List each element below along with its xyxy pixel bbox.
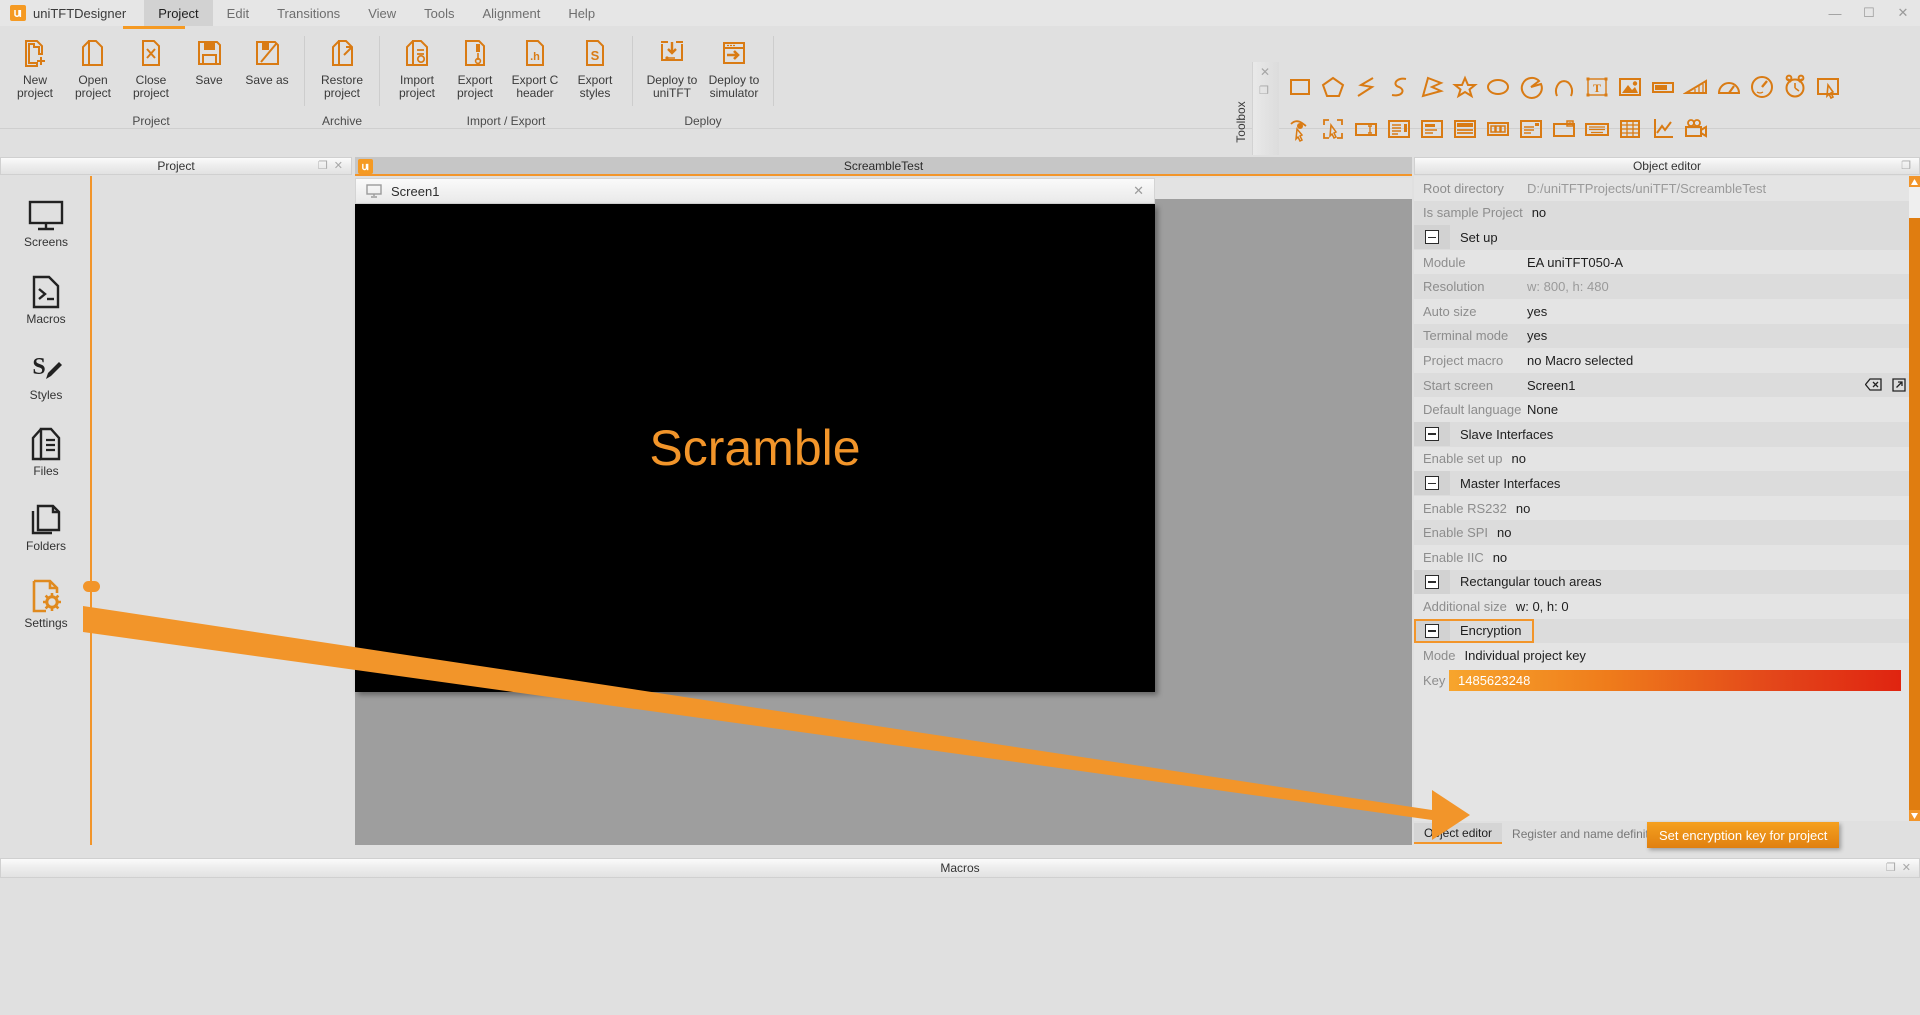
monitor-icon <box>27 200 65 232</box>
property-value: no <box>1532 205 1546 220</box>
save-button[interactable]: Save <box>180 30 238 87</box>
restore-project-icon <box>327 36 357 70</box>
ribbon-group-project-label: Project <box>0 113 302 129</box>
document-tab-bar: ScreambleTest <box>355 157 1412 176</box>
import-project-icon <box>402 36 432 70</box>
toolbox-close-icon[interactable]: ✕ <box>1260 65 1270 79</box>
property-value: w: 0, h: 0 <box>1516 599 1569 614</box>
export-c-header-label: Export Cheader <box>512 74 559 100</box>
collapse-expander[interactable] <box>1414 471 1450 495</box>
property-value: no Macro selected <box>1527 353 1633 368</box>
screen1-canvas[interactable]: Scramble <box>355 204 1155 692</box>
property-label: Start screen <box>1423 378 1527 393</box>
document-tab-title[interactable]: ScreambleTest <box>355 159 1412 173</box>
minus-icon <box>1425 575 1439 589</box>
deploy-to-simulator-button[interactable]: Deploy tosimulator <box>703 30 765 100</box>
property-value: w: 800, h: 480 <box>1527 279 1609 294</box>
bar-tool-icon[interactable] <box>1648 72 1678 102</box>
screen1-window[interactable]: Screen1 ✕ Scramble <box>355 178 1155 718</box>
property-label: Default language <box>1423 402 1527 417</box>
project-panel: Project ❐ ✕ Screens Macros <box>0 157 352 845</box>
menu-help[interactable]: Help <box>554 0 609 26</box>
toolbox-row-2 <box>1285 108 1915 150</box>
property-label: Terminal mode <box>1423 328 1527 343</box>
app-title: uniTFTDesigner <box>33 0 144 26</box>
property-value: Individual project key <box>1465 648 1586 663</box>
pie-tool-icon[interactable] <box>1516 72 1546 102</box>
ribbon-groups: Newproject Openproject Closeproject <box>0 30 776 129</box>
property-label: Is sample Project <box>1423 205 1523 220</box>
ribbon-group-archive-items: Restoreproject <box>307 30 377 113</box>
property-label: Additional size <box>1423 599 1507 614</box>
application-window: uniTFTDesigner Project Edit Transitions … <box>0 0 1920 1015</box>
property-row-project-macro[interactable]: Project macro no Macro selected <box>1414 348 1920 373</box>
close-button[interactable]: ✕ <box>1902 862 1911 874</box>
property-value: no <box>1512 451 1526 466</box>
ribbon-group-import-export-label: Import / Export <box>382 113 630 129</box>
project-nav-rail: Screens Macros S Styles <box>0 186 92 642</box>
property-row-start-screen[interactable]: Start screen Screen1 <box>1414 373 1920 398</box>
property-row-module[interactable]: Module EA uniTFT050-A <box>1414 250 1920 275</box>
project-panel-header: Project ❐ ✕ <box>0 157 352 175</box>
property-label: Enable IIC <box>1423 550 1484 565</box>
minus-icon <box>1425 624 1439 638</box>
gauge-tool-icon[interactable] <box>1714 72 1744 102</box>
document-area: ScreambleTest Screen1 ✕ Scramble <box>355 157 1412 845</box>
sidebar-item-screens[interactable]: Screens <box>0 186 92 262</box>
property-value: EA uniTFT050-A <box>1527 255 1623 270</box>
tab-object-editor[interactable]: Object editor <box>1414 823 1502 844</box>
sidebar-item-styles[interactable]: S Styles <box>0 338 92 414</box>
new-project-icon <box>20 36 50 70</box>
macros-panel-body <box>0 879 1920 1015</box>
save-label: Save <box>195 74 222 87</box>
polyline-tool-icon[interactable] <box>1351 72 1381 102</box>
monitor-icon <box>366 184 382 198</box>
property-label: Root directory <box>1423 181 1527 196</box>
star-tool-icon[interactable] <box>1450 72 1480 102</box>
collapse-expander[interactable] <box>1414 422 1450 446</box>
ribbon-group-deploy-items: Deploy touniTFT Deploy tosimulator <box>635 30 771 113</box>
clock-tool-icon[interactable] <box>1780 72 1810 102</box>
property-group-label: Slave Interfaces <box>1460 427 1553 442</box>
property-row-default-language[interactable]: Default language None <box>1414 397 1920 422</box>
image-tool-icon[interactable] <box>1615 72 1645 102</box>
float-button[interactable]: ❐ <box>318 160 328 172</box>
touch-frame-icon[interactable] <box>1318 114 1348 144</box>
settings-gear-icon <box>29 579 63 613</box>
app-logo-icon <box>10 5 26 21</box>
deploy-to-simulator-icon <box>719 36 749 70</box>
export-styles-button[interactable]: S Exportstyles <box>566 30 624 100</box>
keyboard-icon[interactable] <box>1582 114 1612 144</box>
float-button[interactable]: ❐ <box>1886 862 1896 874</box>
sidebar-item-folders[interactable]: Folders <box>0 490 92 566</box>
export-c-header-button[interactable]: .h Export Cheader <box>504 30 566 100</box>
export-styles-label: Exportstyles <box>578 74 613 100</box>
sidebar-item-styles-label: Styles <box>30 388 63 402</box>
screen1-close-icon[interactable]: ✕ <box>1133 183 1144 199</box>
sidebar-item-folders-label: Folders <box>26 539 66 553</box>
sidebar-item-settings-label: Settings <box>24 616 67 630</box>
property-row-enable-set-up[interactable]: Enable set up no <box>1414 447 1920 472</box>
title-bar: uniTFTDesigner Project Edit Transitions … <box>0 0 1920 26</box>
object-editor-property-list: Root directory D:/uniTFTProjects/uniTFT/… <box>1414 176 1920 821</box>
restore-project-label: Restoreproject <box>321 74 363 100</box>
property-group-encryption[interactable]: Encryption <box>1414 619 1920 644</box>
deploy-to-simulator-label: Deploy tosimulator <box>709 74 760 100</box>
close-project-button[interactable]: Closeproject <box>122 30 180 100</box>
property-row-enable-iic[interactable]: Enable IIC no <box>1414 545 1920 570</box>
touch-area-tool-icon[interactable] <box>1813 72 1843 102</box>
screen1-title-bar: Screen1 ✕ <box>355 178 1155 204</box>
property-value: None <box>1527 402 1558 417</box>
property-row-enable-rs232[interactable]: Enable RS232 no <box>1414 496 1920 521</box>
ribbon-group-import-export: Importproject Exportproject .h Export Ch… <box>382 30 630 129</box>
sidebar-item-macros[interactable]: Macros <box>0 262 92 338</box>
ribbon-group-archive: Restoreproject Archive <box>307 30 377 129</box>
export-styles-icon: S <box>580 36 610 70</box>
property-row-additional-size[interactable]: Additional size w: 0, h: 0 <box>1414 594 1920 619</box>
object-editor-header: Object editor ❐ <box>1414 157 1920 175</box>
svg-text:S: S <box>32 354 45 380</box>
svg-text:S: S <box>591 48 600 63</box>
sidebar-item-macros-label: Macros <box>26 312 65 326</box>
project-panel-buttons: ❐ ✕ <box>318 160 351 172</box>
scale-tool-icon[interactable] <box>1681 72 1711 102</box>
ribbon-separator-4 <box>773 36 774 106</box>
panel-splitter[interactable] <box>90 176 92 845</box>
scrollbar-thumb[interactable] <box>1909 218 1920 818</box>
minus-icon <box>1425 427 1439 441</box>
sidebar-item-files[interactable]: Files <box>0 414 92 490</box>
property-value: no <box>1493 550 1507 565</box>
scroll-down-arrow[interactable] <box>1909 810 1920 821</box>
open-project-icon <box>78 36 108 70</box>
arc-tool-icon[interactable] <box>1549 72 1579 102</box>
export-project-icon <box>460 36 490 70</box>
instrument-tool-icon[interactable] <box>1747 72 1777 102</box>
toolbox-label: Toolbox <box>1234 101 1248 142</box>
property-value: D:/uniTFTProjects/uniTFT/ScreambleTest <box>1527 181 1766 196</box>
property-row-is-sample-project[interactable]: Is sample Project no <box>1414 201 1920 226</box>
collapse-expander[interactable] <box>1414 225 1450 249</box>
menu-tools[interactable]: Tools <box>410 0 468 26</box>
property-label: Auto size <box>1423 304 1527 319</box>
menu-bar: Project Edit Transitions View Tools Alig… <box>144 0 609 26</box>
toolbox-palette: T <box>1285 66 1915 154</box>
touch-button-icon[interactable] <box>1285 114 1315 144</box>
ribbon-group-project-items: Newproject Openproject Closeproject <box>0 30 302 113</box>
minus-icon <box>1425 476 1439 490</box>
toolbox-float-icon[interactable]: ❐ <box>1259 84 1269 97</box>
macros-panel: Macros ❐ ✕ <box>0 858 1920 1015</box>
property-row-root-directory[interactable]: Root directory D:/uniTFTProjects/uniTFT/… <box>1414 176 1920 201</box>
object-editor-scrollbar[interactable] <box>1909 176 1920 821</box>
property-label: Module <box>1423 255 1527 270</box>
property-group-label: Set up <box>1460 230 1498 245</box>
save-as-label: Save as <box>245 74 288 87</box>
export-project-label: Exportproject <box>457 74 493 100</box>
property-row-auto-size[interactable]: Auto size yes <box>1414 299 1920 324</box>
close-project-label: Closeproject <box>133 74 169 100</box>
property-label: Mode <box>1423 648 1456 663</box>
text-tool-icon[interactable]: T <box>1582 72 1612 102</box>
panel-icon[interactable] <box>1516 114 1546 144</box>
video-icon[interactable] <box>1681 114 1711 144</box>
macros-panel-header: Macros ❐ ✕ <box>0 858 1920 878</box>
project-panel-body: Screens Macros S Styles <box>0 176 352 845</box>
collapse-expander[interactable] <box>1414 570 1450 594</box>
project-panel-title: Project <box>1 159 351 173</box>
close-button[interactable]: ✕ <box>1886 0 1920 26</box>
property-value: yes <box>1527 304 1547 319</box>
save-icon <box>194 36 224 70</box>
window-controls: — ☐ ✕ <box>1818 0 1920 26</box>
ribbon-group-import-export-items: Importproject Exportproject .h Export Ch… <box>382 30 630 113</box>
encryption-key-tooltip: Set encryption key for project <box>1647 822 1839 848</box>
folders-icon <box>29 504 63 536</box>
property-label: Enable set up <box>1423 451 1503 466</box>
minus-icon <box>1425 230 1439 244</box>
canvas-text-object[interactable]: Scramble <box>649 419 860 477</box>
deploy-to-unitft-label: Deploy touniTFT <box>647 74 698 100</box>
property-row-terminal-mode[interactable]: Terminal mode yes <box>1414 324 1920 349</box>
canvas-backdrop-right <box>1155 199 1412 692</box>
menu-edit[interactable]: Edit <box>213 0 263 26</box>
property-group-label: Encryption <box>1460 623 1521 638</box>
open-external-icon[interactable] <box>1892 378 1906 392</box>
open-project-button[interactable]: Openproject <box>64 30 122 100</box>
svg-text:T: T <box>1593 81 1601 95</box>
input-field-icon[interactable] <box>1351 114 1381 144</box>
macros-panel-title: Macros <box>1 861 1919 875</box>
close-project-icon <box>136 36 166 70</box>
toolbox-row-1: T <box>1285 66 1915 108</box>
deploy-to-unitft-icon <box>657 36 687 70</box>
ribbon-group-deploy: Deploy touniTFT Deploy tosimulator Deplo… <box>635 30 771 129</box>
import-project-label: Importproject <box>399 74 435 100</box>
sidebar-item-files-label: Files <box>33 464 58 478</box>
radio-group-icon[interactable] <box>1483 114 1513 144</box>
chart-icon[interactable] <box>1648 114 1678 144</box>
menu-transitions[interactable]: Transitions <box>263 0 354 26</box>
property-group-set-up[interactable]: Set up <box>1414 225 1920 250</box>
export-c-header-icon: .h <box>520 36 550 70</box>
property-row-mode[interactable]: Mode Individual project key <box>1414 643 1920 668</box>
maximize-button[interactable]: ☐ <box>1852 0 1886 26</box>
macro-file-icon <box>30 275 62 309</box>
property-group-label: Master Interfaces <box>1460 476 1560 491</box>
ribbon-separator-1 <box>304 36 305 106</box>
ribbon-tab-line <box>0 26 1920 29</box>
screen1-name: Screen1 <box>391 184 439 199</box>
restore-project-button[interactable]: Restoreproject <box>313 30 371 100</box>
property-row-enable-spi[interactable]: Enable SPI no <box>1414 520 1920 545</box>
rectangle-tool-icon[interactable] <box>1285 72 1315 102</box>
property-value: Screen1 <box>1527 378 1575 393</box>
ribbon-separator-3 <box>632 36 633 106</box>
property-group-master-interfaces[interactable]: Master Interfaces <box>1414 471 1920 496</box>
property-label: Enable SPI <box>1423 525 1488 540</box>
clear-icon[interactable] <box>1865 378 1882 392</box>
tree-view-icon[interactable] <box>1417 114 1447 144</box>
property-label: Enable RS232 <box>1423 501 1507 516</box>
ribbon-separator-2 <box>379 36 380 106</box>
ellipse-tool-icon[interactable] <box>1483 72 1513 102</box>
encryption-key-input[interactable]: 1485623248 <box>1449 670 1901 691</box>
save-as-icon <box>252 36 282 70</box>
property-label: Key <box>1423 673 1445 688</box>
property-label: Project macro <box>1423 353 1527 368</box>
design-canvas-area[interactable]: Screen1 ✕ Scramble <box>355 178 1412 845</box>
property-value: yes <box>1527 328 1547 343</box>
new-project-label: Newproject <box>17 74 53 100</box>
property-value: no <box>1516 501 1530 516</box>
polygon-tool-icon[interactable] <box>1318 72 1348 102</box>
ribbon-active-tab-underline <box>123 26 185 29</box>
open-project-label: Openproject <box>75 74 111 100</box>
new-project-button[interactable]: Newproject <box>6 30 64 100</box>
property-group-slave-interfaces[interactable]: Slave Interfaces <box>1414 422 1920 447</box>
grid-layout-icon[interactable] <box>1450 114 1480 144</box>
ribbon-group-deploy-label: Deploy <box>635 113 771 129</box>
collapse-expander[interactable] <box>1414 619 1450 643</box>
import-project-button[interactable]: Importproject <box>388 30 446 100</box>
sidebar-item-settings[interactable]: Settings <box>0 566 92 642</box>
property-group-label: Rectangular touch areas <box>1460 574 1602 589</box>
save-as-button[interactable]: Save as <box>238 30 296 87</box>
list-box-icon[interactable] <box>1384 114 1414 144</box>
sidebar-item-screens-label: Screens <box>24 235 68 249</box>
styles-brush-icon: S <box>28 351 64 385</box>
float-button[interactable]: ❐ <box>1901 160 1911 172</box>
object-editor-header-buttons: ❐ <box>1901 160 1919 172</box>
toolbox-dock-tab[interactable]: ✕ ❐ Toolbox <box>1252 62 1279 155</box>
macros-panel-buttons: ❐ ✕ <box>1886 862 1919 874</box>
object-editor-title: Object editor <box>1415 159 1919 173</box>
panel-splitter-grip[interactable] <box>83 581 100 592</box>
freeform-tool-icon[interactable] <box>1417 72 1447 102</box>
close-button[interactable]: ✕ <box>334 160 343 172</box>
menu-alignment[interactable]: Alignment <box>469 0 555 26</box>
files-icon <box>29 427 63 461</box>
minimize-button[interactable]: — <box>1818 0 1852 26</box>
property-row-resolution[interactable]: Resolution w: 800, h: 480 <box>1414 274 1920 299</box>
property-label: Resolution <box>1423 279 1527 294</box>
menu-project[interactable]: Project <box>144 0 212 26</box>
app-logo-wrap <box>0 0 33 26</box>
property-row-key[interactable]: Key 1485623248 <box>1414 668 1920 693</box>
deploy-to-unitft-button[interactable]: Deploy touniTFT <box>641 30 703 100</box>
menu-view[interactable]: View <box>354 0 410 26</box>
ribbon-group-project: Newproject Openproject Closeproject <box>0 30 302 129</box>
ribbon-toolbar: Newproject Openproject Closeproject <box>0 26 1920 129</box>
export-project-button[interactable]: Exportproject <box>446 30 504 100</box>
scroll-up-arrow[interactable] <box>1909 176 1920 187</box>
spline-tool-icon[interactable] <box>1384 72 1414 102</box>
property-value: no <box>1497 525 1511 540</box>
object-editor-panel: Object editor ❐ Root directory D:/uniTFT… <box>1414 157 1920 845</box>
dropdown-icon[interactable] <box>1549 114 1579 144</box>
ribbon-group-archive-label: Archive <box>307 113 377 129</box>
svg-text:.h: .h <box>530 51 540 63</box>
property-group-rectangular-touch-areas[interactable]: Rectangular touch areas <box>1414 570 1920 595</box>
table-icon[interactable] <box>1615 114 1645 144</box>
